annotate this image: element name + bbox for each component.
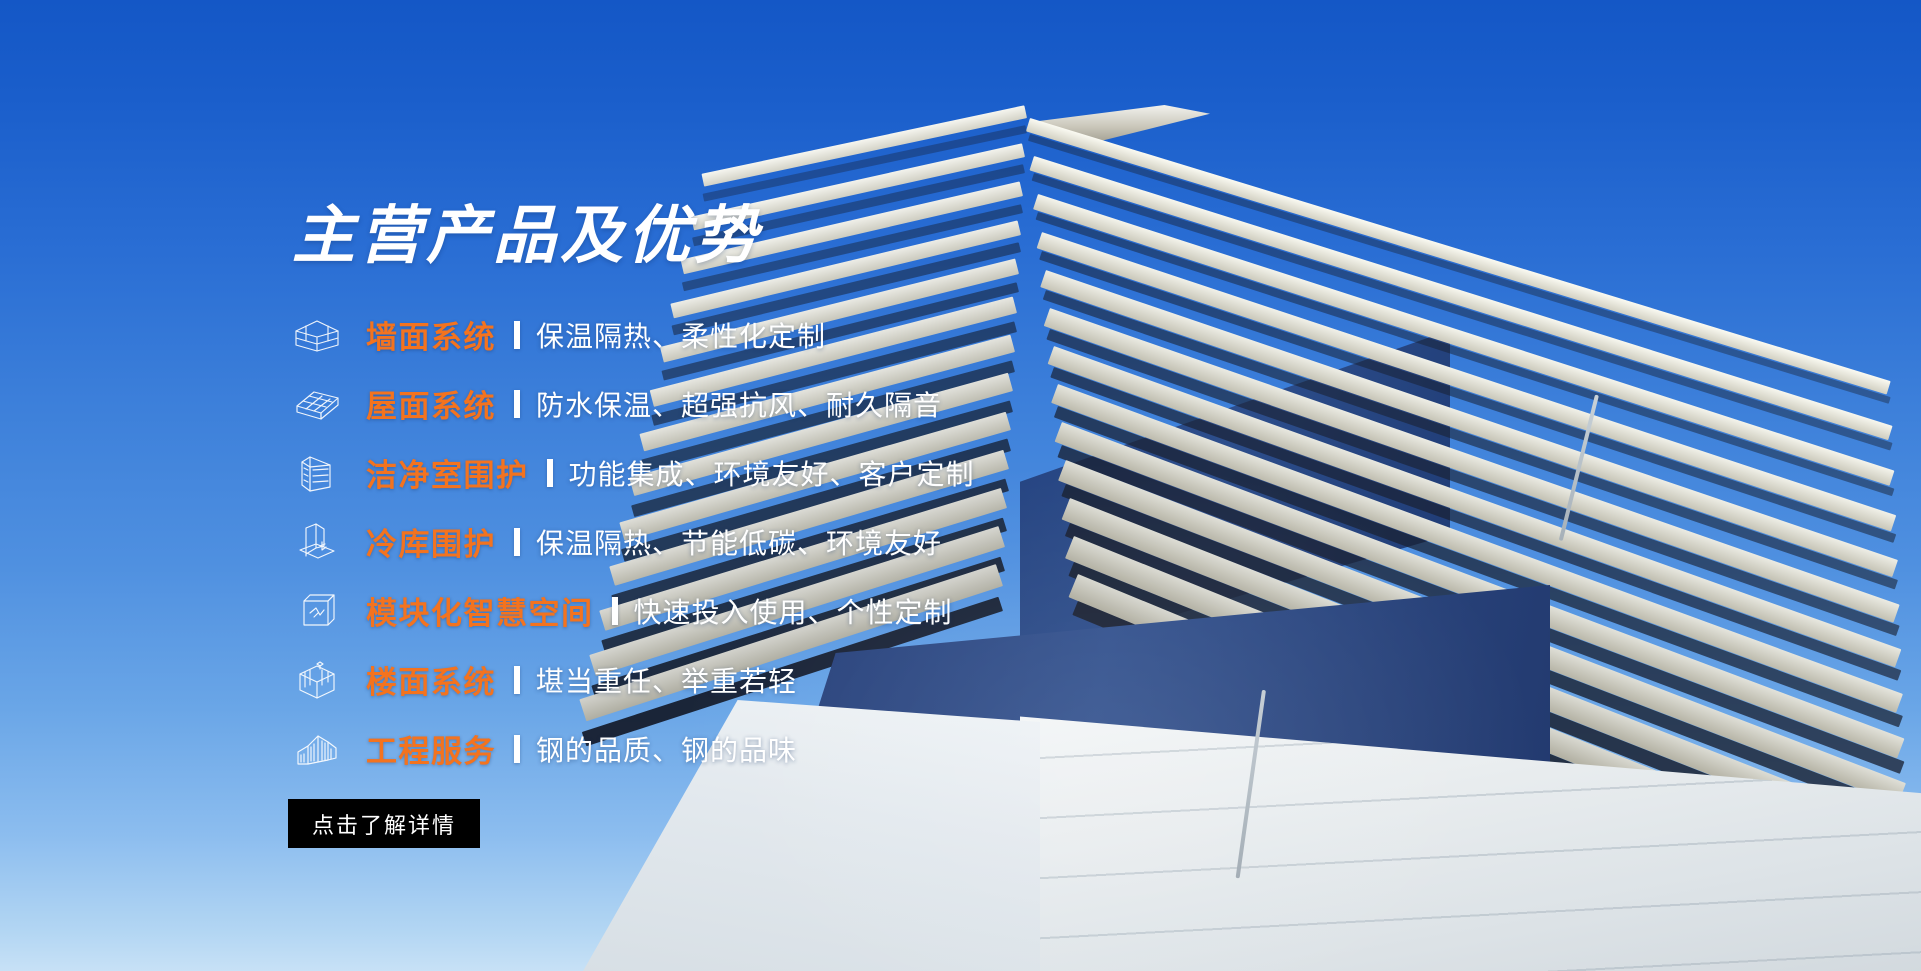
feature-description: 保温隔热、节能低碳、环境友好 — [536, 522, 942, 562]
feature-description: 堪当重任、举重若轻 — [536, 660, 797, 700]
engineering-service-icon — [290, 726, 344, 772]
feature-title: 洁净室围护 — [366, 450, 529, 495]
feature-row[interactable]: 冷库围护保温隔热、节能低碳、环境友好 — [290, 507, 1470, 576]
feature-list: 墙面系统保温隔热、柔性化定制屋面系统防水保温、超强抗风、耐久隔音洁净室围护功能集… — [290, 300, 1470, 783]
feature-separator — [514, 528, 520, 556]
cta-learn-more-button[interactable]: 点击了解详情 — [288, 799, 480, 848]
feature-separator — [514, 735, 520, 763]
modular-space-cube-icon — [290, 588, 344, 634]
feature-description: 保温隔热、柔性化定制 — [536, 315, 826, 355]
feature-title: 冷库围护 — [366, 519, 496, 564]
feature-row[interactable]: 洁净室围护功能集成、环境友好、客户定制 — [290, 438, 1470, 507]
feature-separator — [514, 390, 520, 418]
page-title: 主营产品及优势 — [292, 205, 761, 268]
feature-title: 墙面系统 — [366, 312, 496, 357]
feature-description: 快速投入使用、个性定制 — [634, 591, 953, 631]
feature-separator — [514, 666, 520, 694]
feature-description: 钢的品质、钢的品味 — [536, 729, 797, 769]
feature-description: 功能集成、环境友好、客户定制 — [569, 453, 975, 493]
feature-row[interactable]: 楼面系统堪当重任、举重若轻 — [290, 645, 1470, 714]
wall-panel-icon — [290, 312, 344, 358]
feature-title: 楼面系统 — [366, 657, 496, 702]
floor-system-icon — [290, 657, 344, 703]
feature-row[interactable]: 模块化智慧空间快速投入使用、个性定制 — [290, 576, 1470, 645]
feature-row[interactable]: 屋面系统防水保温、超强抗风、耐久隔音 — [290, 369, 1470, 438]
feature-title: 工程服务 — [366, 726, 496, 771]
feature-title: 模块化智慧空间 — [366, 588, 594, 633]
cta-label: 点击了解详情 — [312, 808, 456, 840]
feature-row[interactable]: 墙面系统保温隔热、柔性化定制 — [290, 300, 1470, 369]
feature-description: 防水保温、超强抗风、耐久隔音 — [536, 384, 942, 424]
feature-title: 屋面系统 — [366, 381, 496, 426]
cleanroom-building-icon — [290, 450, 344, 496]
feature-separator — [612, 597, 618, 625]
content-overlay: 主营产品及优势 墙面系统保温隔热、柔性化定制屋面系统防水保温、超强抗风、耐久隔音… — [0, 0, 1921, 971]
feature-separator — [547, 459, 553, 487]
cold-storage-icon — [290, 519, 344, 565]
feature-separator — [514, 321, 520, 349]
roof-panel-icon — [290, 381, 344, 427]
promo-banner: 主营产品及优势 墙面系统保温隔热、柔性化定制屋面系统防水保温、超强抗风、耐久隔音… — [0, 0, 1921, 971]
feature-row[interactable]: 工程服务钢的品质、钢的品味 — [290, 714, 1470, 783]
